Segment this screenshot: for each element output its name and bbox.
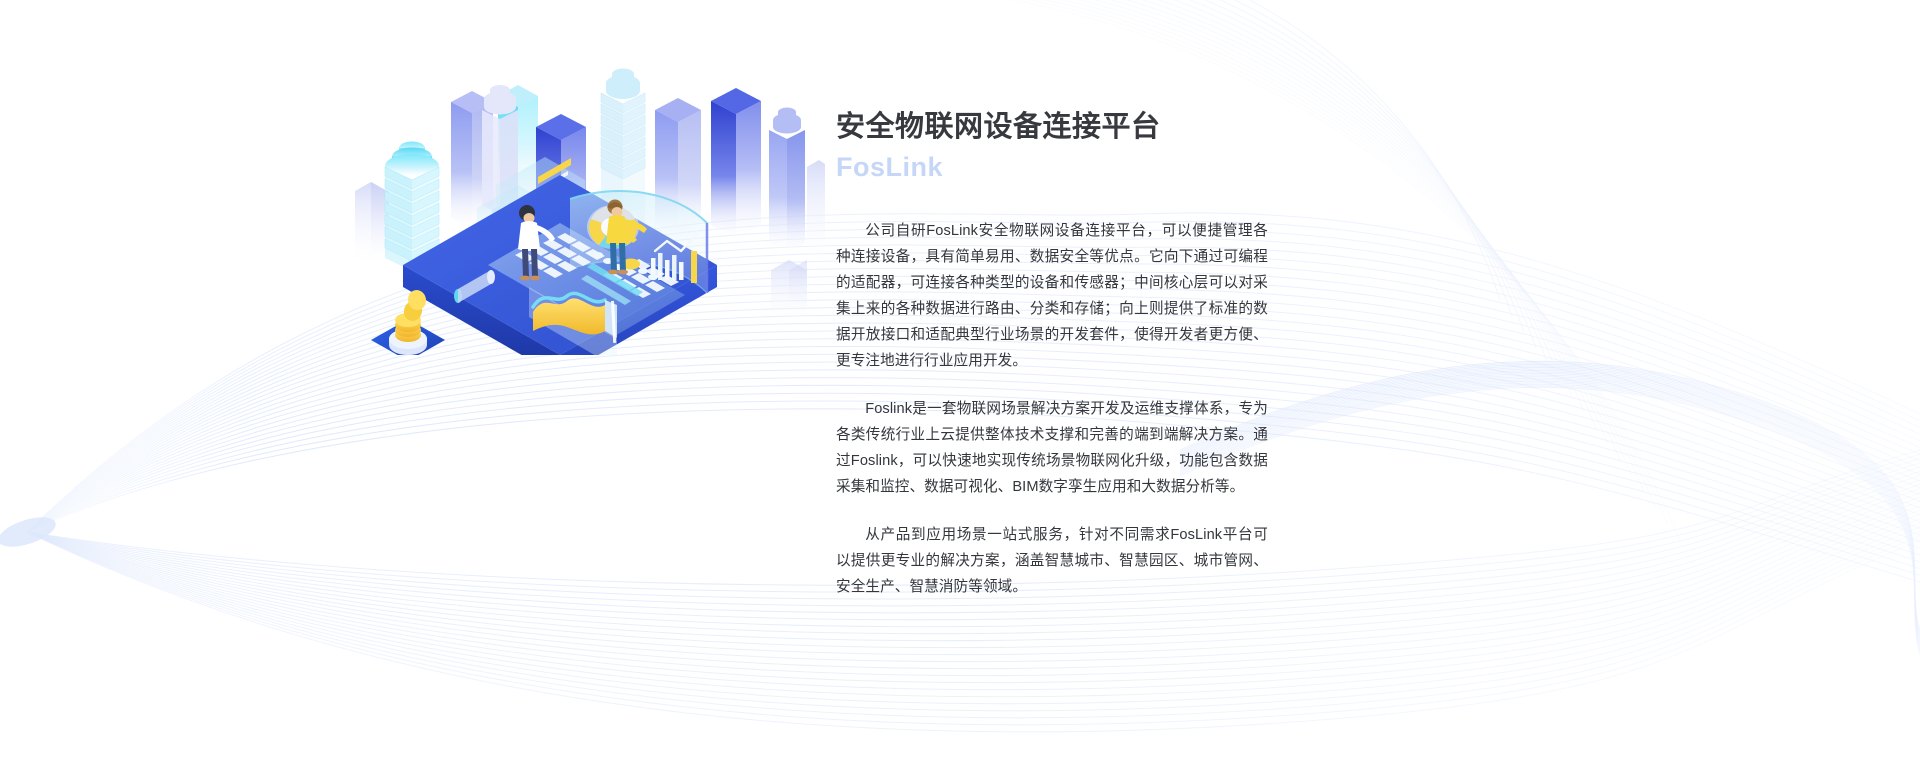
hero-body-copy: 公司自研FosLink安全物联网设备连接平台，可以便捷管理各种连接设备，具有简单…	[836, 218, 1268, 600]
body-paragraph-3: 从产品到应用场景一站式服务，针对不同需求FosLink平台可以提供更专业的解决方…	[836, 522, 1268, 600]
page-title: 安全物联网设备连接平台	[836, 108, 1476, 147]
isometric-smart-city-iot-illustration	[355, 55, 825, 355]
wave-convergence-node	[0, 511, 59, 552]
hero-text-column: 安全物联网设备连接平台 FosLink 公司自研FosLink安全物联网设备连接…	[836, 108, 1476, 600]
skyscraper-pale-far-right	[807, 160, 825, 260]
body-paragraph-2: Foslink是一套物联网场景解决方案开发及运维支撑体系，专为各类传统行业上云提…	[836, 396, 1268, 500]
page-subtitle: FosLink	[836, 149, 1476, 185]
skyscraper-pale-far-left	[355, 182, 389, 265]
skyscraper-right-blue	[711, 88, 761, 238]
body-paragraph-1: 公司自研FosLink安全物联网设备连接平台，可以便捷管理各种连接设备，具有简单…	[836, 218, 1268, 374]
skyscraper-tower-stepped-right	[769, 108, 805, 253]
hero-banner: 安全物联网设备连接平台 FosLink 公司自研FosLink安全物联网设备连接…	[0, 0, 1920, 760]
skyscraper-pale-far-right-2	[771, 260, 807, 323]
